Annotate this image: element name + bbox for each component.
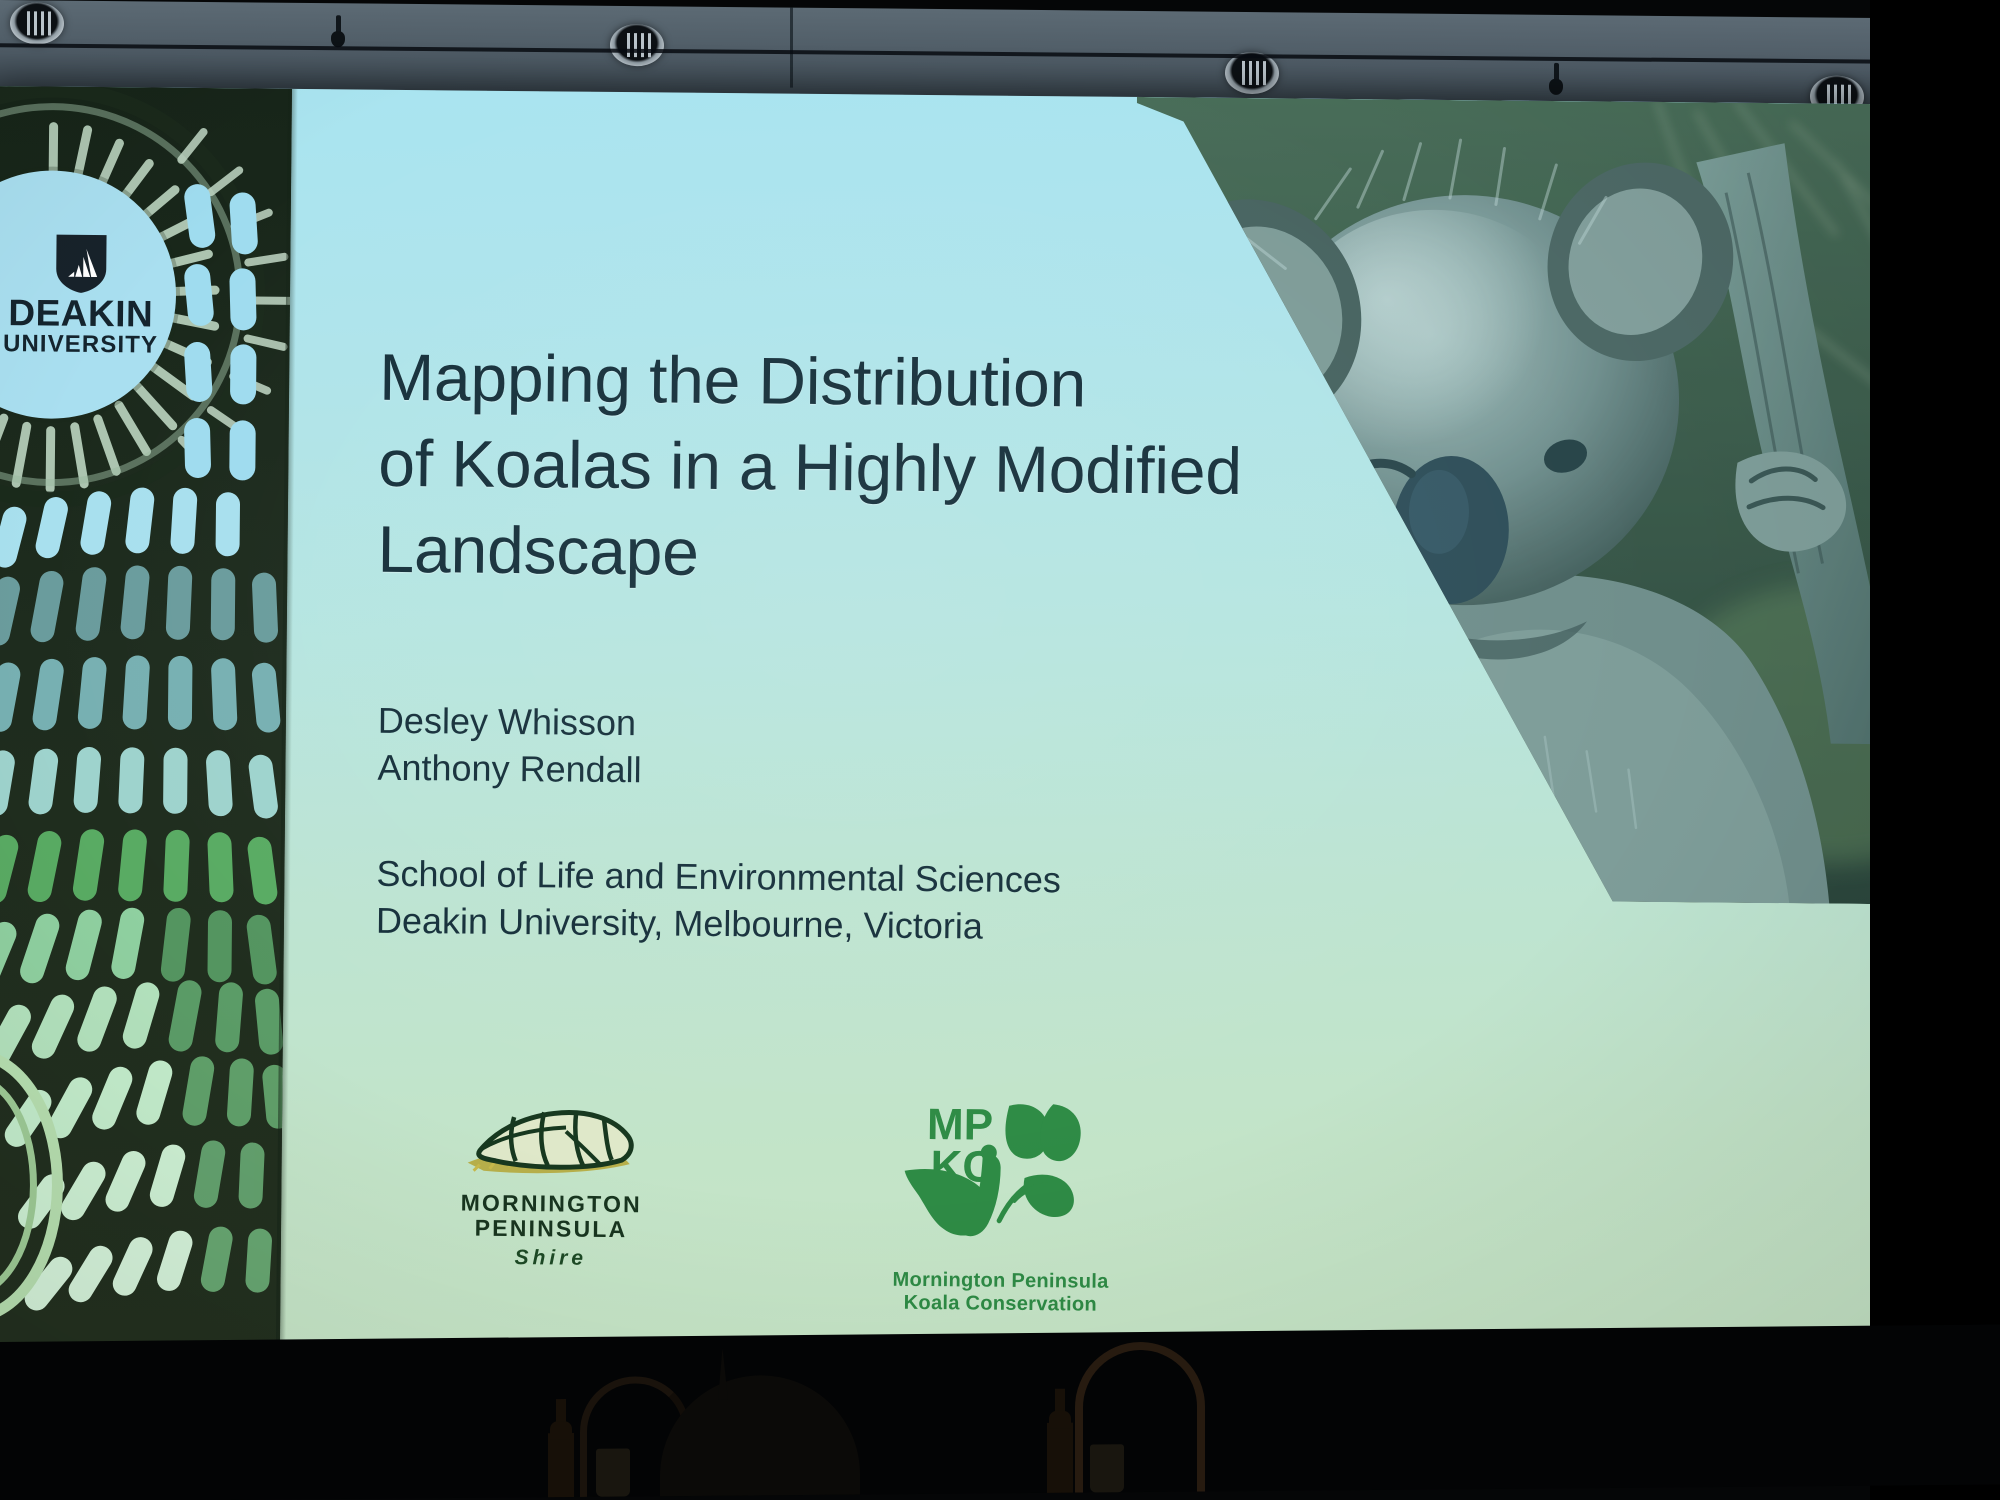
author-name: Anthony Rendall <box>377 745 1177 799</box>
author-list: Desley Whisson Anthony Rendall <box>377 698 1178 799</box>
recessed-downlight-icon <box>10 2 64 45</box>
author-name: Desley Whisson <box>378 698 1178 752</box>
ceiling-panel-seam <box>790 8 793 88</box>
affiliation-line-2: Deakin University, Melbourne, Victoria <box>376 897 1276 953</box>
mpkc-line-2: Koala Conservation <box>875 1292 1125 1318</box>
audience-hair-silhouette <box>718 1348 728 1400</box>
deakin-logo-line1: DEAKIN <box>3 294 158 333</box>
title-line-1: Mapping the Distribution <box>379 335 1330 430</box>
bottle-silhouette <box>1047 1423 1073 1493</box>
bottle-silhouette <box>548 1433 574 1497</box>
mps-line-3: Shire <box>436 1245 666 1271</box>
mpkc-logo: MP KC Mornington Peninsula Koala Conserv… <box>875 1095 1127 1318</box>
projection-screen: DEAKIN UNIVERSITY <box>0 86 1952 1375</box>
presentation-slide: DEAKIN UNIVERSITY <box>0 86 1917 1369</box>
mpkc-line-1: Mornington Peninsula <box>875 1269 1125 1295</box>
room-right-wall <box>1870 0 2000 1500</box>
affiliation: School of Life and Environmental Science… <box>376 850 1277 953</box>
audience-head-silhouette <box>660 1374 860 1496</box>
title-line-3: Landscape <box>377 506 1328 601</box>
mps-line-2: PENINSULA <box>436 1215 666 1242</box>
fire-sprinkler-icon <box>1548 63 1564 97</box>
fire-sprinkler-icon <box>330 15 346 49</box>
deakin-logo-line2: UNIVERSITY <box>3 332 158 358</box>
room-foreground <box>0 1325 2000 1500</box>
mps-line-1: MORNINGTON <box>436 1190 666 1217</box>
deakin-shield-icon <box>54 232 109 295</box>
page-title: Mapping the Distribution of Koalas in a … <box>377 335 1329 601</box>
recessed-downlight-icon <box>610 24 664 67</box>
glass-silhouette <box>1090 1444 1124 1492</box>
shell-icon <box>461 1101 642 1187</box>
glass-silhouette <box>596 1449 630 1497</box>
koala-leaf-icon: MP KC <box>896 1095 1108 1267</box>
title-line-2: of Koalas in a Highly Modified <box>378 421 1329 516</box>
mornington-peninsula-shire-logo: MORNINGTON PENINSULA Shire <box>436 1100 668 1271</box>
affiliation-line-1: School of Life and Environmental Science… <box>376 850 1276 906</box>
photo-of-conference-screen: DEAKIN UNIVERSITY <box>0 0 2000 1500</box>
